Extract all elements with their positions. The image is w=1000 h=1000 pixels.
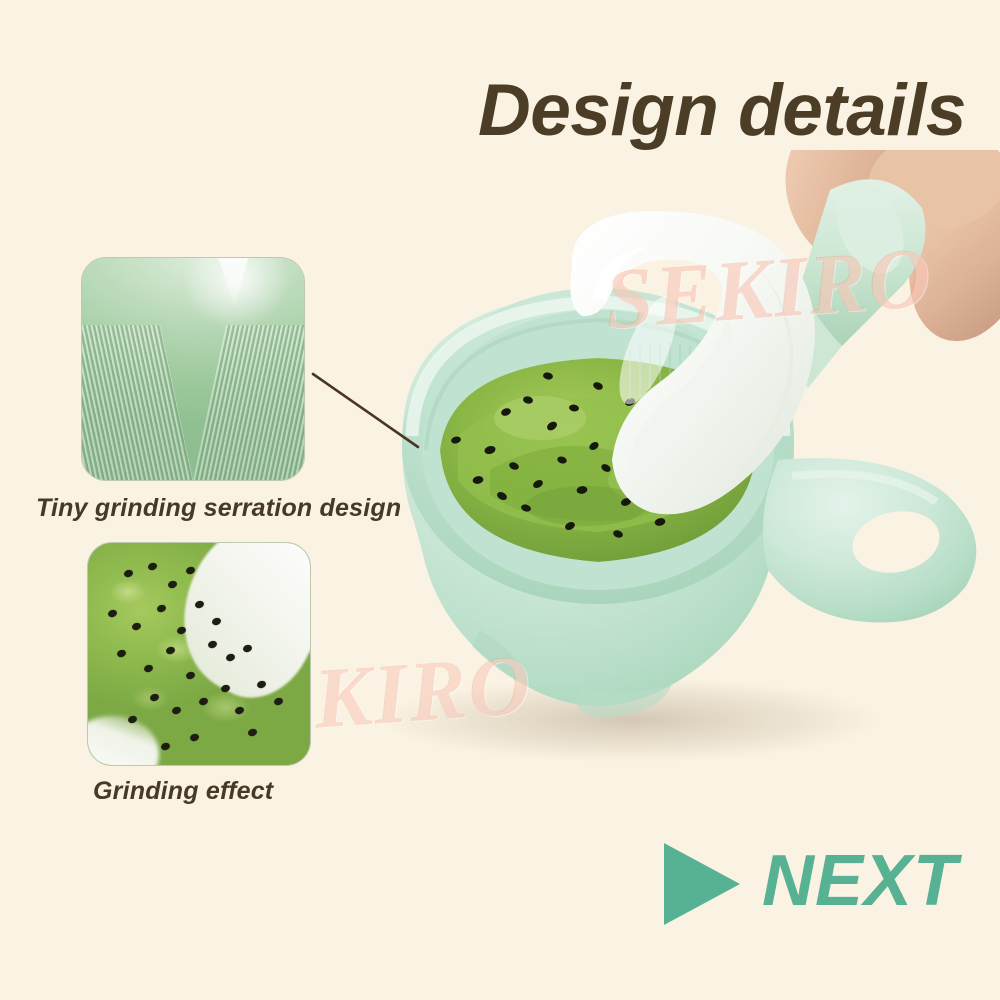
product-detail-slide: SEKIRO SEKIRO Design details Tiny grindi… xyxy=(0,0,1000,1000)
next-button[interactable]: NEXT xyxy=(664,843,958,925)
next-label: NEXT xyxy=(762,845,958,917)
product-photo xyxy=(330,150,1000,800)
kiwi-seeds-inset xyxy=(88,543,310,765)
grinding-effect-image xyxy=(88,543,310,765)
caption-grinding-effect: Grinding effect xyxy=(93,777,273,806)
serration-image xyxy=(82,258,304,480)
caption-serration: Tiny grinding serration design xyxy=(36,494,401,523)
play-triangle-icon xyxy=(664,843,740,925)
callout-leader-line xyxy=(300,360,440,470)
page-title: Design details xyxy=(478,74,966,147)
inset-serration-closeup xyxy=(82,258,304,480)
inset-grinding-effect xyxy=(88,543,310,765)
product-illustration xyxy=(330,150,1000,800)
